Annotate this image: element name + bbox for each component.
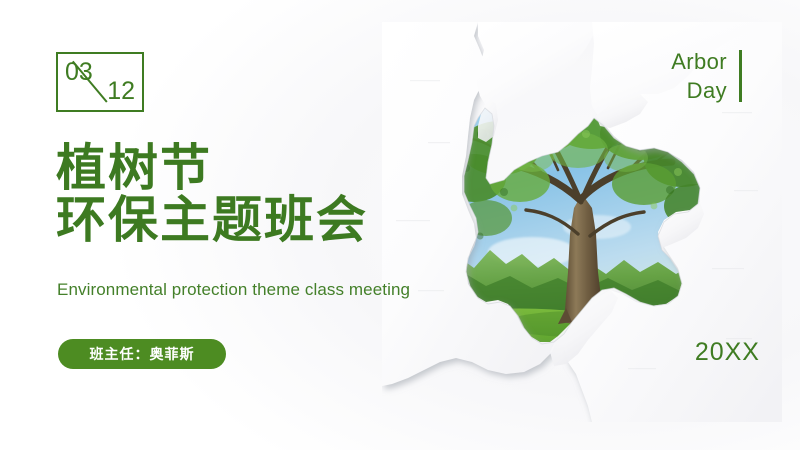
title-line-2: 环保主题班会 <box>56 194 456 246</box>
year-label: 20XX <box>695 338 760 366</box>
date-badge: 03 12 <box>56 52 144 112</box>
brand-line-2: Day <box>671 76 727 105</box>
title-line-1: 植树节 <box>56 142 456 194</box>
subtitle: Environmental protection theme class mee… <box>57 280 410 300</box>
brand-line-1: Arbor <box>671 47 727 76</box>
teacher-badge: 班主任：奥菲斯 <box>58 339 226 369</box>
slide-canvas: 03 12 植树节 环保主题班会 Environmental protectio… <box>0 0 800 450</box>
brand-text: Arbor Day <box>671 47 727 105</box>
vertical-rule-icon <box>739 50 742 102</box>
brand: Arbor Day <box>671 47 742 105</box>
teacher-label: 班主任：奥菲斯 <box>90 344 195 364</box>
page-title: 植树节 环保主题班会 <box>56 142 456 246</box>
date-day: 12 <box>107 79 135 104</box>
